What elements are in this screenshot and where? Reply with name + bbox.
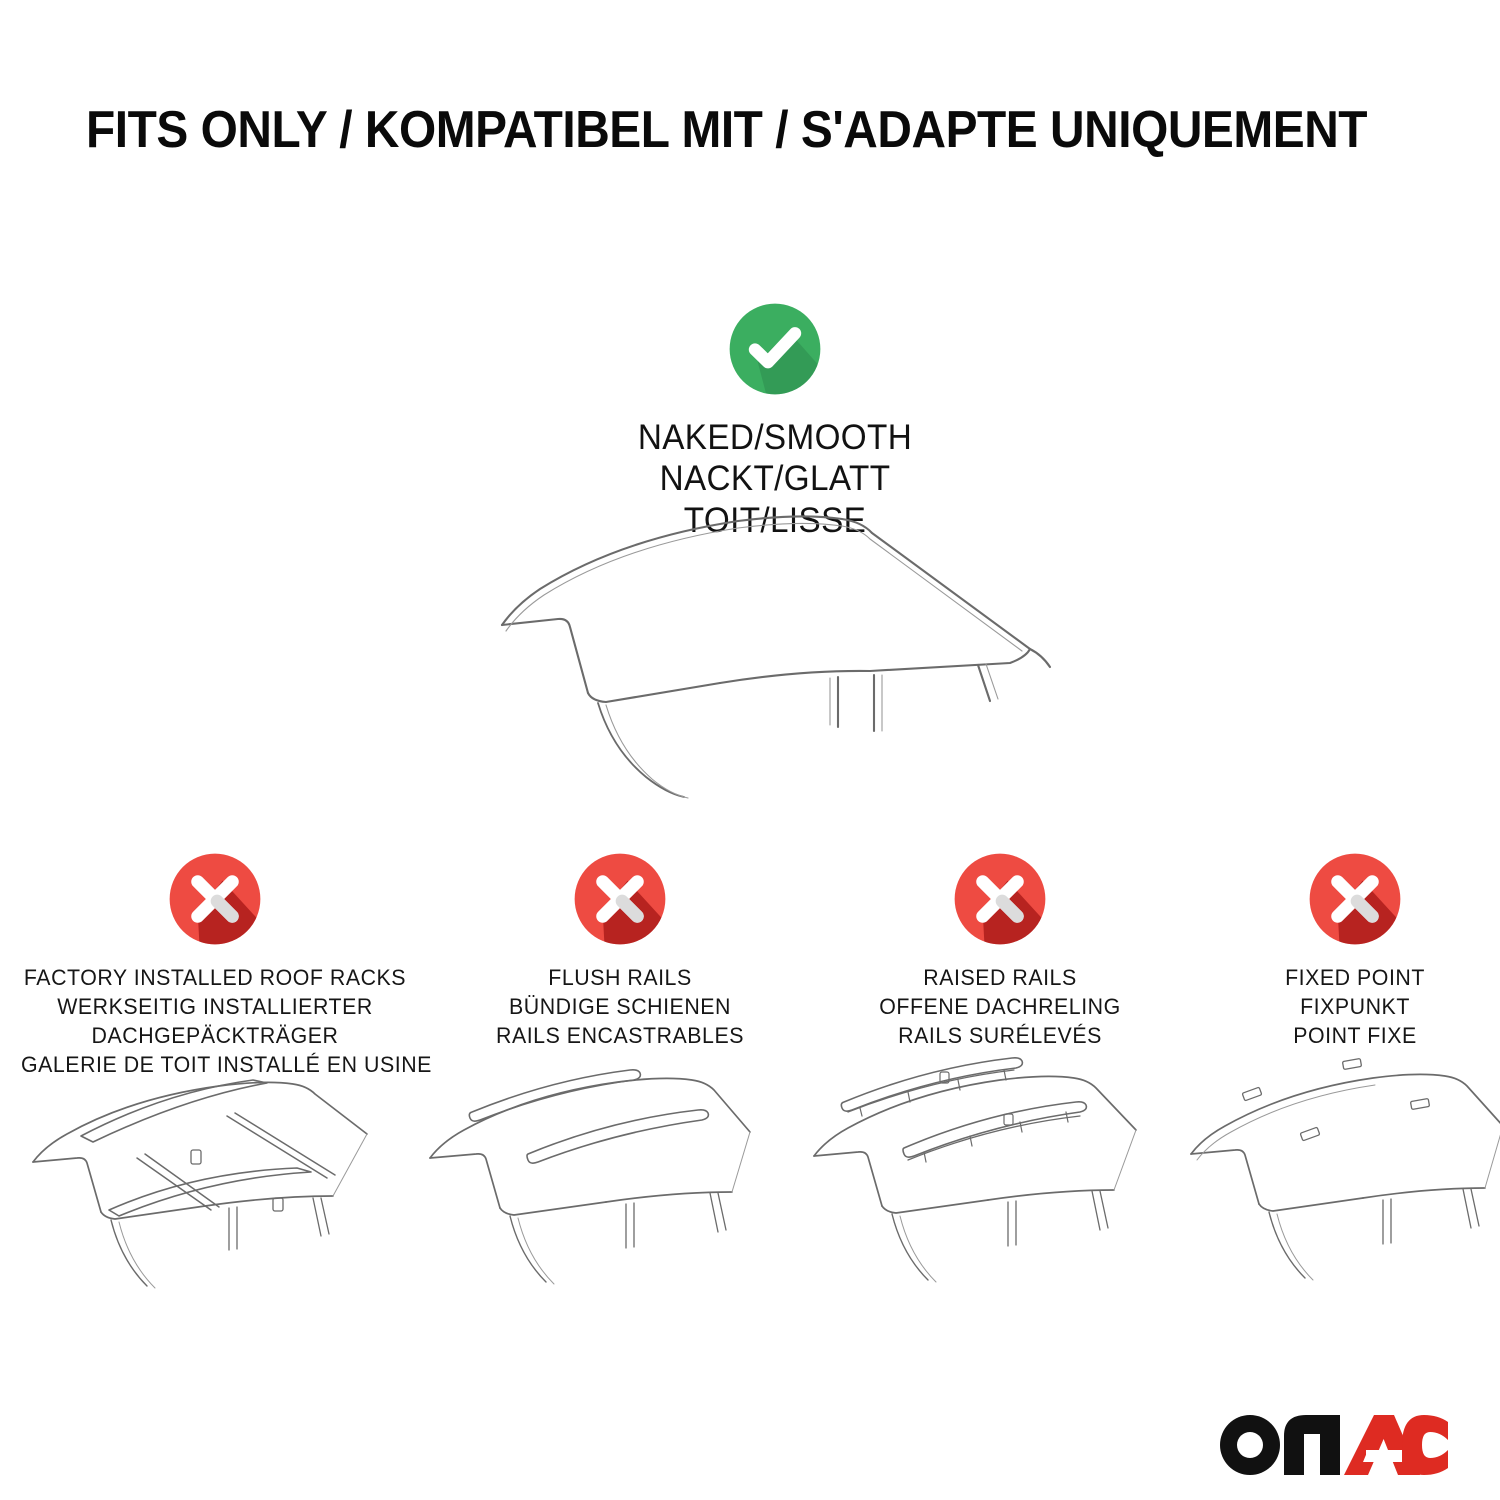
compatible-label-de: NACKT/GLATT (490, 458, 1060, 499)
label-line-3: POINT FIXE (1190, 1021, 1500, 1050)
compatible-block: NAKED/SMOOTH NACKT/GLATT TOIT/LISSE (475, 295, 1075, 541)
car-roof-fixed-point-illustration (1185, 1050, 1500, 1310)
car-roof-flush-rails-illustration (420, 1050, 820, 1310)
incompatible-item-flush-rails: FLUSH RAILS BÜNDIGE SCHIENEN RAILS ENCAS… (420, 845, 820, 1050)
badge-wrap (15, 845, 415, 963)
badge-wrap (800, 845, 1200, 963)
incompatible-item-raised-rails: RAISED RAILS OFFENE DACHRELING RAILS SUR… (800, 845, 1200, 1050)
incompatible-columns: FACTORY INSTALLED ROOF RACKS WERKSEITIG … (0, 845, 1500, 1325)
red-x-circle-icon (566, 845, 674, 953)
compatible-label-en: NAKED/SMOOTH (490, 417, 1060, 458)
incompatible-labels: FLUSH RAILS BÜNDIGE SCHIENEN RAILS ENCAS… (426, 963, 814, 1050)
logo-letter-c (1402, 1415, 1448, 1475)
badge-wrap (420, 845, 820, 963)
label-line-3: DACHGEPÄCKTRÄGER (21, 1021, 409, 1050)
label-line-1: FACTORY INSTALLED ROOF RACKS (21, 963, 409, 992)
incompatible-labels: RAISED RAILS OFFENE DACHRELING RAILS SUR… (806, 963, 1194, 1050)
logo-letter-o (1220, 1415, 1280, 1475)
label-line-2: OFFENE DACHRELING (806, 992, 1194, 1021)
red-x-circle-icon (1301, 845, 1409, 953)
label-line-2: FIXPUNKT (1190, 992, 1500, 1021)
incompatible-item-fixed-point: FIXED POINT FIXPUNKT POINT FIXE (1185, 845, 1500, 1050)
label-line-2: BÜNDIGE SCHIENEN (426, 992, 814, 1021)
label-line-1: FLUSH RAILS (426, 963, 814, 992)
incompatible-labels: FIXED POINT FIXPUNKT POINT FIXE (1190, 963, 1500, 1050)
label-line-1: FIXED POINT (1190, 963, 1500, 992)
car-roof-factory-rack-illustration (15, 1050, 415, 1310)
label-line-2: WERKSEITIG INSTALLIERTER (21, 992, 409, 1021)
label-line-1: RAISED RAILS (806, 963, 1194, 992)
red-x-circle-icon (161, 845, 269, 953)
logo-letter-m (1284, 1415, 1340, 1475)
label-line-3: RAILS ENCASTRABLES (426, 1021, 814, 1050)
incompatible-item-factory-installed-roof-racks: FACTORY INSTALLED ROOF RACKS WERKSEITIG … (15, 845, 415, 1079)
page-title: FITS ONLY / KOMPATIBEL MIT / S'ADAPTE UN… (86, 103, 1319, 158)
green-check-circle-icon (721, 295, 829, 403)
fitment-infographic: FITS ONLY / KOMPATIBEL MIT / S'ADAPTE UN… (0, 0, 1500, 1500)
label-line-3: RAILS SURÉLEVÉS (806, 1021, 1194, 1050)
car-roof-raised-rails-illustration (800, 1050, 1200, 1310)
badge-wrap (1185, 845, 1500, 963)
omac-logo (1216, 1404, 1448, 1478)
red-x-circle-icon (946, 845, 1054, 953)
car-roof-naked-smooth-illustration (470, 505, 1080, 805)
